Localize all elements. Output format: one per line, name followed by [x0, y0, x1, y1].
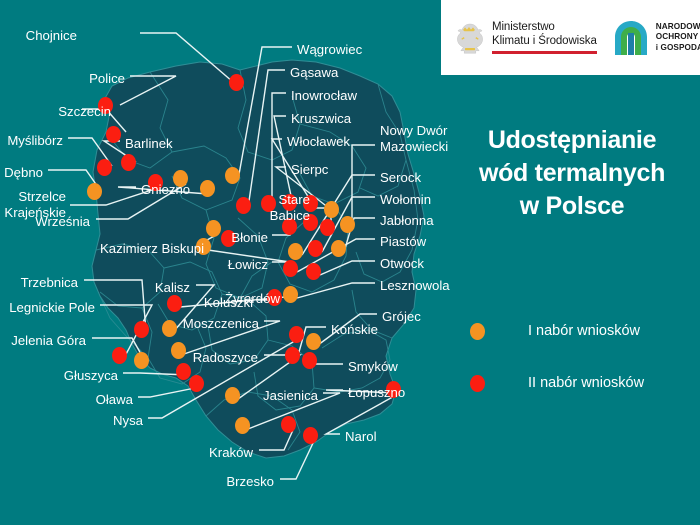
city-label-blonie: Błonie — [231, 230, 268, 246]
city-label-trzebnica: Trzebnica — [21, 275, 78, 291]
map-marker-d-grojec[interactable] — [306, 333, 321, 350]
city-label-otwock: Otwock — [380, 256, 424, 272]
city-label-jasienica: Jasienica — [263, 388, 318, 404]
map-marker-d-babice-c[interactable] — [320, 219, 335, 236]
city-label-gluszyca: Głuszyca — [64, 368, 118, 384]
city-label-koluszki: Koluszki — [204, 295, 253, 311]
map-marker-d-lesznowola[interactable] — [283, 286, 298, 303]
map-marker-d-brzesko[interactable] — [303, 427, 318, 444]
city-label-grojec: Grójec — [382, 309, 421, 325]
map-marker-d-barlinek[interactable] — [121, 154, 136, 171]
page-title: Udostępnianie wód termalnych w Polsce — [452, 124, 692, 223]
map-marker-d-legnickie[interactable] — [112, 347, 127, 364]
map-marker-d-trzebnica[interactable] — [134, 321, 149, 338]
legend-item-nabor1: I nabór wniosków — [470, 305, 690, 357]
city-label-szczecin: Szczecin — [58, 104, 111, 120]
map-marker-d-zyrardow[interactable] — [167, 295, 182, 312]
map-marker-d-chojnice[interactable] — [229, 74, 244, 91]
city-label-wrzesnia: Września — [35, 214, 90, 230]
map-marker-d-gasawa[interactable] — [236, 197, 251, 214]
city-label-jelenia: Jelenia Góra — [11, 333, 86, 349]
legend-dot-nabor2-icon — [470, 375, 485, 392]
map-marker-d-kalisz[interactable] — [162, 320, 177, 337]
legend: I nabór wniosków II nabór wniosków — [470, 305, 690, 409]
city-label-kazimierz: Kazimierz Biskupi — [100, 241, 204, 257]
ministry-logo: Ministerstwo Klimatu i Środowiska — [455, 19, 597, 57]
map-marker-d-moszczenica[interactable] — [171, 342, 186, 359]
city-label-legnickie: Legnickie Pole — [9, 300, 95, 316]
city-label-konskie: Końskie — [331, 322, 378, 338]
map-marker-d-sierpc[interactable] — [324, 201, 339, 218]
city-label-krakow: Kraków — [209, 445, 253, 461]
map-marker-d-gluszyca[interactable] — [176, 363, 191, 380]
city-label-sierpc: Sierpc — [291, 162, 328, 178]
ministry-line-2: Klimatu i Środowiska — [492, 35, 597, 49]
city-label-gniezno: Gniezno — [141, 182, 190, 198]
leader-line — [297, 283, 375, 298]
city-label-kruszwica: Kruszwica — [291, 111, 351, 127]
leader-line — [120, 76, 176, 105]
ministry-red-rule — [492, 51, 597, 54]
nfosigw-line-2: OCHRONY ŚRODOWISKA — [656, 32, 700, 43]
map-marker-d-kazimierz[interactable] — [206, 220, 221, 237]
city-label-moszczenica: Moszczenica — [183, 316, 259, 332]
nfosigw-line-3: i GOSPODARKI WODNEJ — [656, 43, 700, 54]
map-marker-d-smykow[interactable] — [302, 352, 317, 369]
city-label-barlinek: Barlinek — [125, 136, 173, 152]
nfosigw-line-1: NARODOWY FUNDUSZ — [656, 22, 700, 33]
city-label-inowroclaw: Inowrocław — [291, 88, 357, 104]
city-label-wolomin: Wołomin — [380, 192, 431, 208]
city-label-jablonna: Jabłonna — [380, 213, 434, 229]
ministry-logo-text: Ministerstwo Klimatu i Środowiska — [492, 21, 597, 54]
city-label-narol: Narol — [345, 429, 377, 445]
city-label-olawa: Oława — [96, 392, 133, 408]
nfosigw-logo: NARODOWY FUNDUSZ OCHRONY ŚRODOWISKA i GO… — [613, 19, 700, 57]
map-marker-d-mysliborz[interactable] — [97, 159, 112, 176]
legend-label-nabor1: I nabór wniosków — [528, 323, 640, 339]
city-label-debno: Dębno — [4, 165, 43, 181]
city-label-lesznowola: Lesznowola — [380, 278, 450, 294]
city-label-kalisz: Kalisz — [155, 280, 190, 296]
legend-dot-nabor1-icon — [470, 323, 485, 340]
legend-item-nabor2: II nabór wniosków — [470, 357, 690, 409]
leader-line — [320, 261, 375, 275]
leader-line — [140, 33, 240, 88]
sponsor-logo-bar: Ministerstwo Klimatu i Środowiska NARODO… — [441, 0, 700, 75]
title-line-3: w Polsce — [452, 190, 692, 223]
city-label-chojnice: Chojnice — [26, 28, 77, 44]
map-marker-d-jasienica[interactable] — [235, 417, 250, 434]
map-marker-d-nysa[interactable] — [289, 326, 304, 343]
legend-label-nabor2: II nabór wniosków — [528, 375, 644, 391]
map-marker-d-nowydwor[interactable] — [340, 216, 355, 233]
city-label-mysliborz: Myślibórz — [7, 133, 63, 149]
map-marker-d-serock[interactable] — [288, 243, 303, 260]
map-marker-d-konskie[interactable] — [285, 347, 300, 364]
leader-line — [259, 430, 293, 450]
leader-line — [352, 145, 375, 228]
polish-eagle-emblem-icon — [455, 19, 485, 57]
map-marker-d-olawa[interactable] — [189, 375, 204, 392]
city-label-radoszyce: Radoszyce — [193, 350, 258, 366]
city-label-piastow: Piastów — [380, 234, 426, 250]
infographic-root: ChojnicePoliceSzczecinMyślibórzDębnoStrz… — [0, 0, 700, 525]
map-marker-d-szczecin[interactable] — [106, 126, 121, 143]
map-marker-d-jablonna[interactable] — [331, 240, 346, 257]
map-marker-d-radoszyce[interactable] — [225, 387, 240, 404]
map-marker-d-wolomin[interactable] — [308, 240, 323, 257]
city-label-wloclawek: Włocławek — [287, 134, 350, 150]
map-marker-d-krakow[interactable] — [281, 416, 296, 433]
map-marker-d-piastow[interactable] — [283, 260, 298, 277]
title-line-2: wód termalnych — [452, 157, 692, 190]
city-label-nowydwor: Nowy Dwór Mazowiecki — [380, 123, 448, 154]
city-label-gasawa: Gąsawa — [290, 65, 338, 81]
city-label-wagrowiec: Wągrowiec — [297, 42, 362, 58]
map-marker-d-jelenia[interactable] — [134, 352, 149, 369]
map-marker-d-gniezno[interactable] — [200, 180, 215, 197]
city-label-starebabice: Stare Babice — [270, 192, 310, 223]
city-label-lowicz: Łowicz — [228, 257, 268, 273]
nfosigw-emblem-icon — [613, 19, 649, 57]
map-marker-d-wagrowiec[interactable] — [225, 167, 240, 184]
ministry-line-1: Ministerstwo — [492, 21, 597, 35]
city-label-serock: Serock — [380, 170, 421, 186]
title-line-1: Udostępnianie — [452, 124, 692, 157]
nfosigw-logo-text: NARODOWY FUNDUSZ OCHRONY ŚRODOWISKA i GO… — [656, 22, 700, 54]
city-label-nysa: Nysa — [113, 413, 143, 429]
city-label-lopuszno: Łopuszno — [348, 385, 405, 401]
city-label-smykow: Smyków — [348, 359, 398, 375]
city-label-brzesko: Brzesko — [226, 474, 274, 490]
city-label-police: Police — [89, 71, 125, 87]
map-marker-d-debno[interactable] — [87, 183, 102, 200]
map-marker-d-otwock[interactable] — [306, 263, 321, 280]
